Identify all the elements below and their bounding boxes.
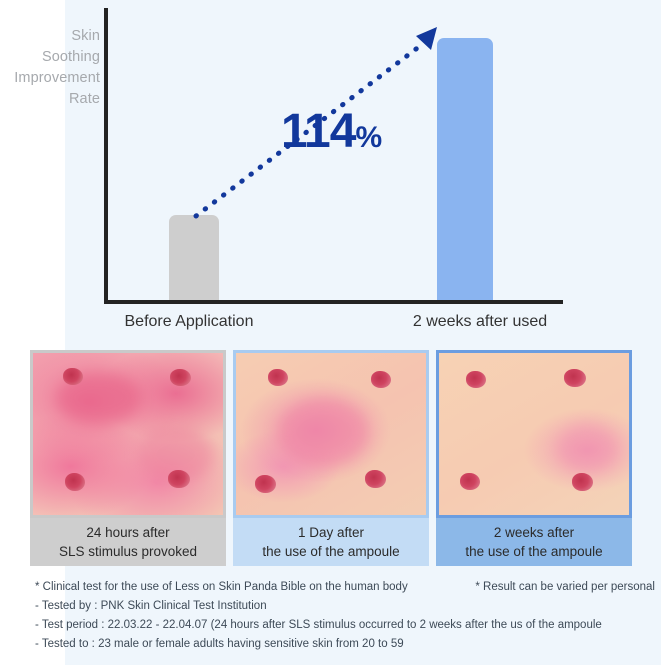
- skin-lesion: [170, 369, 191, 386]
- photo-card-two-weeks: 2 weeks after the use of the ampoule: [436, 350, 632, 566]
- bar-chart: Skin Soothing Improvement Rate 114% Befo…: [0, 0, 661, 340]
- footnote-line-3: - Test period : 22.03.22 - 22.04.07 (24 …: [35, 616, 655, 635]
- footnote-line-2: - Tested by : PNK Skin Clinical Test Ins…: [35, 597, 655, 616]
- footnotes: * Clinical test for the use of Less on S…: [35, 578, 655, 654]
- trend-arrow: [0, 0, 661, 340]
- skin-lesion: [65, 473, 85, 491]
- photo-card-one-day: 1 Day after the use of the ampoule: [233, 350, 429, 566]
- photo-caption-one-day: 1 Day after the use of the ampoule: [233, 518, 429, 566]
- x-tick-before-application: Before Application: [104, 313, 274, 331]
- footnote-line-4: - Tested to : 23 male or female adults h…: [35, 635, 655, 654]
- infographic-root: Skin Soothing Improvement Rate 114% Befo…: [0, 0, 661, 665]
- caption-line-2: the use of the ampoule: [465, 542, 602, 561]
- skin-photo-one-day-image: [233, 350, 429, 518]
- skin-lesion: [466, 371, 486, 388]
- skin-photo-before-image: [30, 350, 226, 518]
- photo-row: 24 hours after SLS stimulus provoked 1 D…: [30, 350, 634, 566]
- skin-lesion: [63, 368, 83, 385]
- footnote-row-1: * Clinical test for the use of Less on S…: [35, 578, 655, 597]
- skin-lesion: [168, 470, 190, 488]
- improvement-callout: 114%: [281, 104, 381, 159]
- skin-photo-two-weeks-image: [436, 350, 632, 518]
- skin-lesion: [371, 371, 391, 388]
- caption-line-1: 1 Day after: [298, 523, 364, 542]
- caption-line-1: 2 weeks after: [494, 523, 574, 542]
- skin-blotch: [557, 424, 618, 473]
- footnote-right-note: * Result can be varied per personal: [475, 578, 655, 597]
- caption-line-1: 24 hours after: [86, 523, 169, 542]
- skin-lesion: [255, 475, 276, 493]
- footnote-row-2: - Tested by : PNK Skin Clinical Test Ins…: [35, 597, 655, 616]
- callout-percent-sign: %: [355, 121, 381, 154]
- footnote-row-3: - Test period : 22.03.22 - 22.04.07 (24 …: [35, 616, 655, 635]
- x-tick-two-weeks-after: 2 weeks after used: [392, 313, 568, 331]
- photo-card-before: 24 hours after SLS stimulus provoked: [30, 350, 226, 566]
- footnote-row-4: - Tested to : 23 male or female adults h…: [35, 635, 655, 654]
- skin-lesion: [572, 473, 593, 491]
- callout-number: 114: [281, 105, 355, 158]
- skin-blotch: [278, 398, 369, 466]
- photo-caption-two-weeks: 2 weeks after the use of the ampoule: [436, 518, 632, 566]
- caption-line-2: SLS stimulus provoked: [59, 542, 197, 561]
- skin-lesion: [460, 473, 480, 490]
- skin-lesion: [365, 470, 386, 488]
- caption-line-2: the use of the ampoule: [262, 542, 399, 561]
- photo-caption-before: 24 hours after SLS stimulus provoked: [30, 518, 226, 566]
